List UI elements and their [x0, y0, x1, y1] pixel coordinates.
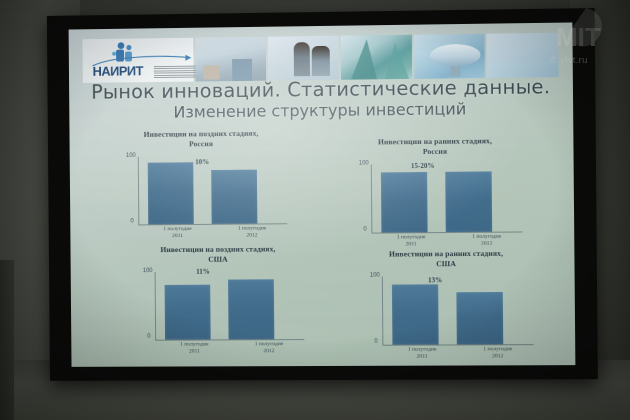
chart-title-line2: Россия	[330, 145, 541, 157]
x-tick-labels: 1 полугодие 2011 1 полугодие 2012	[157, 341, 306, 356]
x-tick-labels: 1 полугодие 2011 1 полугодие 2012	[384, 346, 535, 361]
y-axis	[382, 277, 384, 345]
x-tick-2011: 1 полугодие 2011	[140, 226, 214, 241]
chart-title: Инвестиции на поздних стадиях, Россия	[97, 128, 306, 149]
chart-title-line2: Россия	[97, 138, 305, 150]
chart-late-stage-russia: Инвестиции на поздних стадиях, Россия 10…	[97, 128, 306, 249]
room-scene: НАИРИТ Рынок инноваций. Статистические д…	[0, 0, 630, 420]
presentation-slide: НАИРИТ Рынок инноваций. Статистические д…	[69, 22, 576, 366]
y-axis	[155, 272, 157, 340]
y-axis	[371, 164, 373, 232]
chart-late-stage-usa: Инвестиции на поздних стадиях, США 100 0…	[114, 244, 324, 365]
plot-area: 100 0 11% 1 полугодие 2011	[131, 269, 306, 344]
y-tick-max: 100	[359, 161, 369, 167]
chart-title-line2: США	[341, 258, 553, 269]
projector-screen-surface: НАИРИТ Рынок инноваций. Статистические д…	[69, 22, 576, 366]
chart-early-stage-usa: Инвестиции на ранних стадиях, США 100 0 …	[340, 248, 553, 366]
y-tick-min: 0	[363, 227, 366, 233]
x-tick-2012: 1 полугодие 2012	[460, 346, 536, 360]
glass-towers-photo	[340, 35, 411, 80]
bar-2011	[392, 284, 439, 344]
x-tick-2011: 1 полугодие 2011	[384, 346, 460, 360]
projector-screen-frame: НАИРИТ Рынок инноваций. Статистические д…	[47, 8, 598, 381]
bar-2011	[381, 172, 428, 233]
chart-early-stage-russia: Инвестиции на ранних стадиях, Россия 100…	[329, 136, 541, 258]
x-tick-2012: 1 полугодие 2012	[232, 341, 307, 355]
bar-2012	[228, 279, 274, 339]
vlvt-logo-icon: MIT	[546, 6, 622, 54]
people-at-laptop-photo	[268, 36, 339, 81]
bar-2011	[165, 285, 211, 340]
bar-2012	[445, 171, 492, 232]
bar-group	[164, 271, 296, 340]
y-tick-max: 100	[143, 268, 153, 274]
bar-2012	[211, 170, 257, 224]
chart-title: Инвестиции на ранних стадиях, Россия	[329, 136, 541, 157]
y-tick-max: 100	[370, 273, 380, 279]
bar-2011	[148, 162, 194, 224]
satellite-dish-photo	[413, 34, 485, 79]
bar-group	[392, 276, 526, 345]
vlvt-watermark: MIT © vlvt.ru	[546, 6, 622, 68]
y-tick-max: 100	[126, 153, 136, 159]
city-skyline-photo	[195, 37, 266, 82]
watermark-text: © vlvt.ru	[550, 55, 588, 66]
y-tick-min: 0	[374, 339, 377, 345]
plot-area: 100 0 13% 1 полугодие 2011	[358, 274, 536, 349]
plot-area: 100 0 10% 1 полугодие 2011	[114, 153, 289, 228]
x-tick-2012: 1 полугодие 2012	[215, 225, 290, 240]
y-tick-min: 0	[147, 334, 150, 340]
bar-group	[148, 155, 280, 224]
plot-area: 100 0 15-20% 1 полугодие 2011	[347, 161, 525, 237]
chart-title-line2: США	[114, 253, 323, 264]
bar-2012	[456, 292, 503, 344]
nairit-wordmark: НАИРИТ	[93, 63, 144, 79]
bar-group	[381, 163, 515, 232]
chart-title: Инвестиции на ранних стадиях, США	[340, 248, 552, 269]
x-tick-labels: 1 полугодие 2011 1 полугодие 2012	[140, 225, 289, 240]
x-tick-2011: 1 полугодие 2011	[157, 341, 232, 355]
chart-title: Инвестиции на поздних стадиях, США	[114, 244, 323, 264]
svg-text:MIT: MIT	[556, 22, 601, 52]
y-axis	[138, 157, 140, 225]
slide-title-block: Рынок инноваций. Статистические данные. …	[69, 75, 573, 124]
door-edge	[0, 260, 14, 420]
y-tick-min: 0	[130, 219, 133, 225]
x-tick-2011: 1 полугодие 2011	[373, 234, 449, 249]
x-tick-labels: 1 полугодие 2011 1 полугодие 2012	[373, 233, 524, 248]
nairit-logo: НАИРИТ	[82, 38, 193, 83]
x-tick-2012: 1 полугодие 2012	[449, 233, 525, 248]
